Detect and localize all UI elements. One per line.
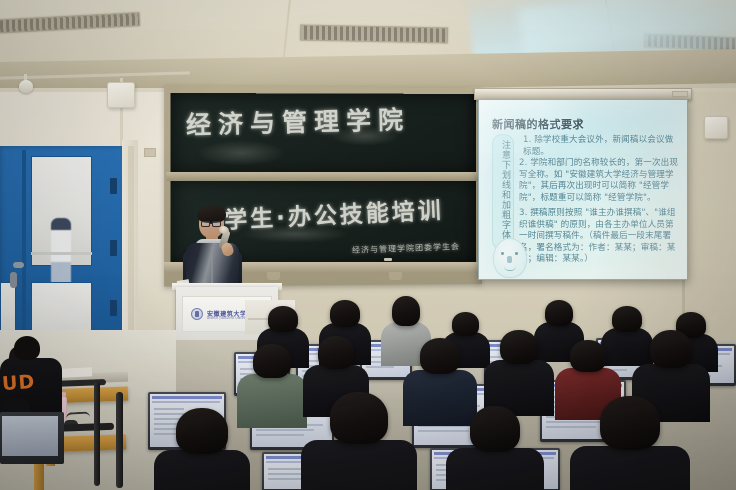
student-seating-area bbox=[0, 0, 736, 490]
chair-post bbox=[94, 382, 100, 486]
laptop-screen-text-line bbox=[366, 366, 394, 368]
student-head bbox=[612, 306, 642, 332]
student-head bbox=[600, 396, 660, 450]
laptop-screen-text-line bbox=[546, 426, 596, 428]
glasses-on-desk bbox=[66, 411, 90, 419]
paper-on-desk bbox=[62, 367, 92, 378]
jacket-logo-text: UD bbox=[1, 371, 36, 395]
student-head bbox=[14, 336, 40, 360]
laptop-screen-text-line bbox=[546, 421, 605, 423]
student-head bbox=[318, 336, 354, 369]
student-head bbox=[176, 408, 228, 454]
student-head bbox=[268, 306, 298, 332]
student-shoulders bbox=[403, 370, 477, 426]
student-head bbox=[330, 392, 388, 444]
laptop-screen-text-line bbox=[418, 430, 469, 432]
student-head bbox=[330, 300, 360, 327]
laptop-screen-text-line bbox=[256, 429, 314, 431]
laptop-screen-text-line bbox=[154, 408, 184, 410]
student-shoulders bbox=[154, 450, 250, 490]
laptop-screen bbox=[2, 416, 58, 456]
student-head bbox=[545, 300, 573, 326]
student-shoulders bbox=[301, 440, 417, 490]
student-shoulders bbox=[601, 328, 653, 366]
student-head bbox=[500, 330, 538, 364]
student-head bbox=[392, 296, 420, 326]
student-head bbox=[470, 406, 520, 452]
laptop-screen-ribbon bbox=[152, 401, 220, 403]
student-shoulders bbox=[446, 448, 544, 490]
student-head bbox=[570, 340, 606, 372]
student-head bbox=[452, 312, 479, 336]
student-head bbox=[650, 330, 692, 368]
student-shoulders bbox=[237, 374, 307, 428]
laptop-screen-text-line bbox=[256, 434, 304, 436]
student-head bbox=[253, 344, 291, 378]
student-shoulders bbox=[570, 446, 690, 490]
student-head bbox=[420, 338, 460, 374]
chair-post bbox=[116, 392, 123, 488]
classroom-photo-scene: 经济与管理学院 学生·办公技能培训 经济与管理学院团委学生会 新闻稿的格式要求 … bbox=[0, 0, 736, 490]
laptop-screen-toolbar bbox=[152, 396, 222, 399]
